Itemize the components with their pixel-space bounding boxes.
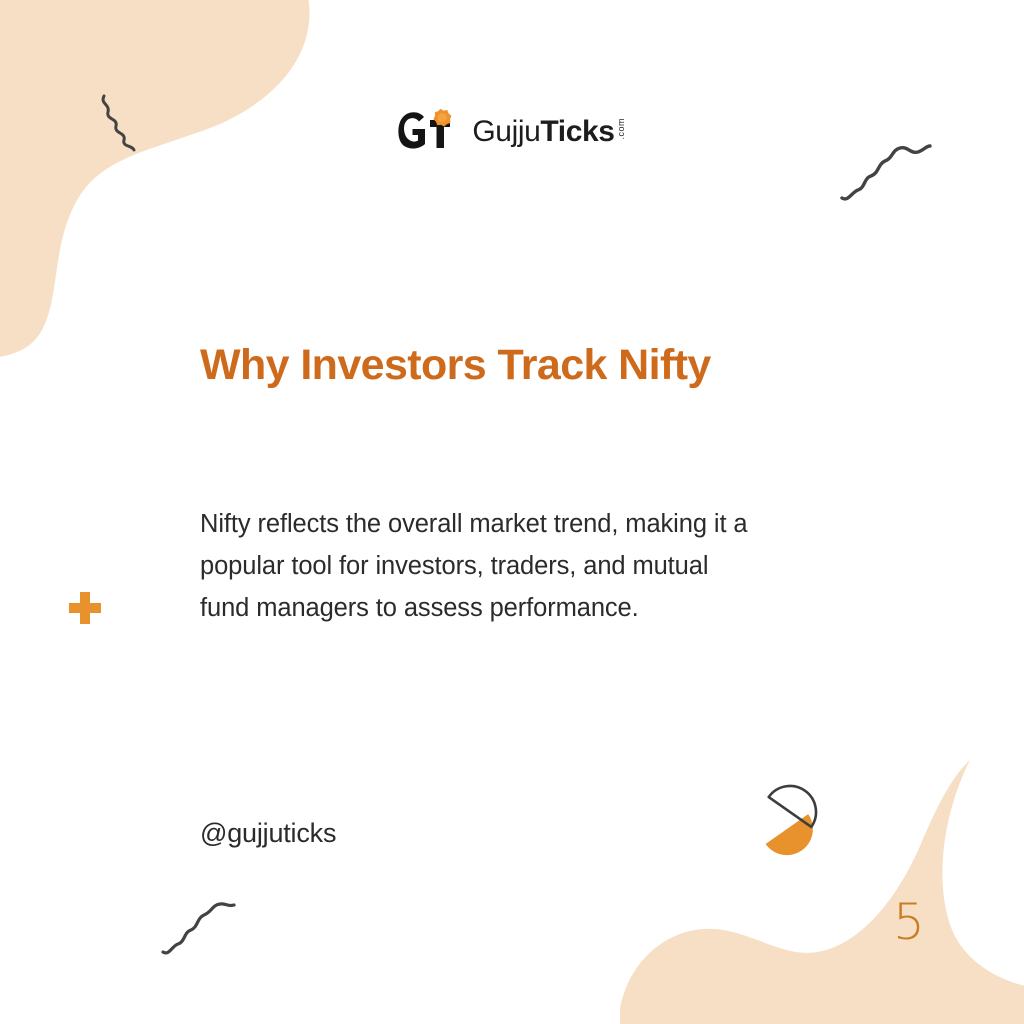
brand-logo: GujjuTicks.com <box>0 108 1024 156</box>
blob-top-left <box>0 0 360 360</box>
logo-word-gujju: Gujju <box>472 117 540 147</box>
logo-wordmark: GujjuTicks.com <box>472 117 625 147</box>
page-title: Why Investors Track Nifty <box>200 341 920 389</box>
split-circle-icon <box>752 782 824 856</box>
plus-icon <box>64 586 106 630</box>
slide-canvas: GujjuTicks.com Why Investors Track Nifty… <box>0 0 1024 1024</box>
social-handle: @gujjuticks <box>200 818 336 849</box>
logo-tld: .com <box>617 118 626 140</box>
body-paragraph: Nifty reflects the overall market trend,… <box>200 503 760 630</box>
squiggle-bottom-left-icon <box>160 898 238 962</box>
gt-monogram-icon <box>398 108 460 156</box>
page-number: 5 <box>893 897 925 947</box>
logo-word-ticks: Ticks <box>540 117 614 147</box>
